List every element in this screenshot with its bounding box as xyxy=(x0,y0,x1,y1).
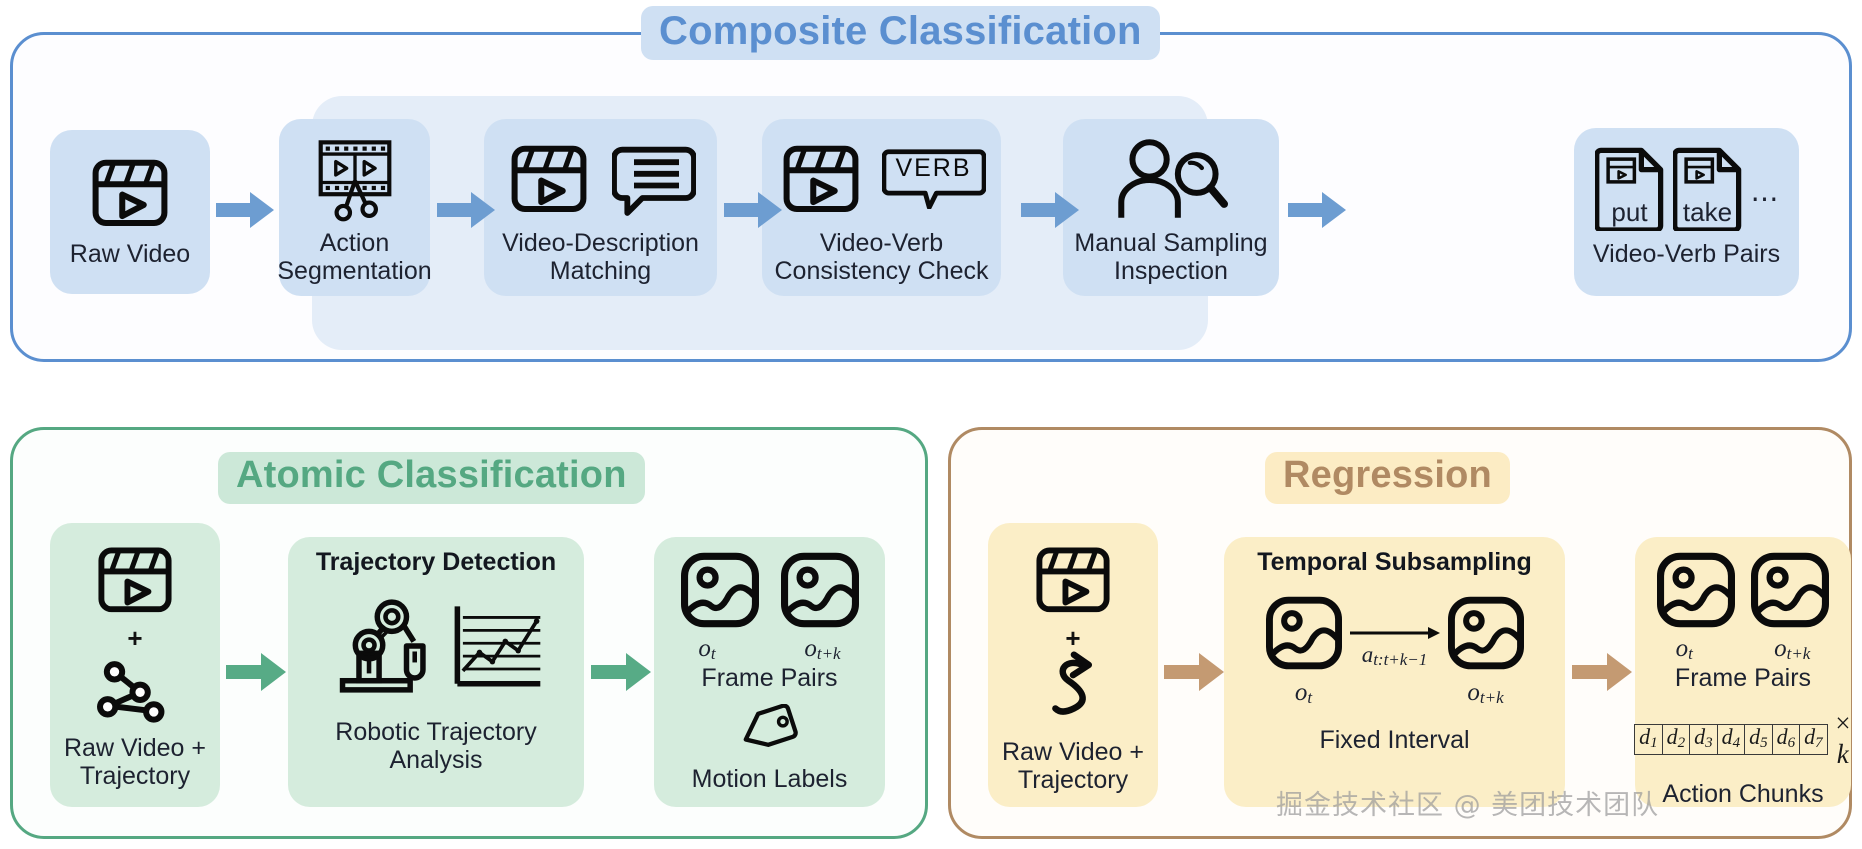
step-atomic-raw-video-trajectory[interactable]: + Raw Video + Trajectory xyxy=(50,523,220,807)
video-doc-icon: put xyxy=(1595,145,1665,236)
clapperboard-icon xyxy=(506,135,592,226)
motion-labels-label: Motion Labels xyxy=(692,765,848,793)
step-trajectory-detection-label: Robotic Trajectory Analysis xyxy=(335,718,536,774)
arrow-matching-to-consistency xyxy=(724,192,782,233)
ellipsis-icon: ⋯ xyxy=(1751,166,1779,215)
line-chart-icon xyxy=(448,599,546,698)
regression-frame-label-otk: ot+k xyxy=(1774,636,1810,662)
chunk-cell-d7: d7 xyxy=(1800,724,1828,755)
step-action-segmentation-label: Action Segmentation xyxy=(277,229,431,285)
subsampling-frame-label-left: ot xyxy=(1295,680,1312,706)
video-doc-label-put: put xyxy=(1595,197,1665,228)
speech-bubble-lines-icon xyxy=(612,138,696,223)
arrow-consistency-to-inspection xyxy=(1021,192,1079,233)
regression-frame-pairs-label: Frame Pairs xyxy=(1675,664,1811,692)
clapperboard-icon xyxy=(87,144,173,240)
step-video-verb-pairs[interactable]: put take ⋯ Video-Verb Pairs xyxy=(1574,128,1799,296)
temporal-subsampling-heading: Temporal Subsampling xyxy=(1257,549,1532,577)
frame-label-ot: ot xyxy=(698,636,715,662)
clapperboard-icon xyxy=(778,135,864,226)
film-strip-scissors-icon xyxy=(309,131,401,229)
person-magnifier-icon xyxy=(1111,131,1231,229)
chunk-cell-d4: d4 xyxy=(1718,724,1746,755)
plus-sign: + xyxy=(127,628,142,649)
arrow-regression-input-to-subsampling xyxy=(1164,653,1224,696)
image-frame-icon xyxy=(1264,595,1344,676)
step-video-verb-consistency-check-label: Video-Verb Consistency Check xyxy=(775,229,989,285)
watermark: 掘金技术社区 @ 美团技术团队 xyxy=(1276,783,1659,822)
verb-bubble-text: VERB xyxy=(882,154,986,183)
action-chunks-label: Action Chunks xyxy=(1662,780,1823,808)
arrow-detection-to-frame-pairs xyxy=(591,653,651,696)
chunk-cell-d2: d2 xyxy=(1663,724,1691,755)
tag-icon xyxy=(740,704,800,763)
clapperboard-icon xyxy=(93,537,177,626)
composite-classification-title: Composite Classification xyxy=(641,6,1160,60)
frame-pairs-label: Frame Pairs xyxy=(701,664,837,692)
step-video-description-matching[interactable]: Video-Description Matching xyxy=(484,119,717,296)
step-action-segmentation[interactable]: Action Segmentation xyxy=(279,119,430,296)
image-frame-icon xyxy=(1446,595,1526,676)
chunk-cell-d1: d1 xyxy=(1634,724,1663,755)
step-temporal-subsampling-label: Fixed Interval xyxy=(1319,726,1469,754)
trajectory-detection-heading: Trajectory Detection xyxy=(316,549,556,577)
subsampling-transition-label: at:t+k−1 xyxy=(1362,643,1428,668)
action-chunks-row: d1 d2 d3 d4 d5 d6 d7 × k xyxy=(1634,708,1852,770)
atomic-classification-title: Atomic Classification xyxy=(218,452,645,504)
arrow-atomic-input-to-detection xyxy=(226,653,286,696)
regression-title: Regression xyxy=(1265,452,1510,504)
arrow-segmentation-to-matching xyxy=(437,192,495,233)
chunk-cell-d5: d5 xyxy=(1745,724,1773,755)
subsampling-frame-label-right: ot+k xyxy=(1467,680,1503,706)
step-frame-pairs-motion-labels[interactable]: ot ot+k Frame Pairs Motion Labels xyxy=(654,537,885,807)
video-doc-label-take: take xyxy=(1673,197,1743,228)
arrow-inspection-to-pairs xyxy=(1288,192,1346,233)
step-temporal-subsampling[interactable]: Temporal Subsampling ot xyxy=(1224,537,1565,807)
step-video-verb-consistency-check[interactable]: VERB Video-Verb Consistency Check xyxy=(762,119,1001,296)
step-manual-sampling-inspection[interactable]: Manual Sampling Inspection xyxy=(1063,119,1279,296)
regression-frame-label-ot: ot xyxy=(1676,636,1693,662)
arrow-raw-video-to-segmentation xyxy=(216,192,274,233)
chunk-cell-d6: d6 xyxy=(1773,724,1801,755)
step-video-verb-pairs-label: Video-Verb Pairs xyxy=(1593,240,1780,268)
clapperboard-icon xyxy=(1031,537,1115,626)
trajectory-graph-icon xyxy=(92,653,178,728)
step-video-description-matching-label: Video-Description Matching xyxy=(502,229,699,285)
plus-sign: + xyxy=(1065,628,1080,649)
frame-label-otk: ot+k xyxy=(804,636,840,662)
step-regression-raw-video-trajectory-label: Raw Video + Trajectory xyxy=(1002,738,1144,794)
chunk-cell-d3: d3 xyxy=(1690,724,1718,755)
step-trajectory-detection[interactable]: Trajectory Detection xyxy=(288,537,584,807)
diagram-root: Composite Classification Raw Video xyxy=(0,0,1862,849)
arrow-subsampling-to-action-chunks xyxy=(1572,653,1632,696)
right-arrow-icon xyxy=(1348,625,1442,641)
robot-arm-icon xyxy=(326,593,434,704)
step-atomic-raw-video-trajectory-label: Raw Video + Trajectory xyxy=(64,734,206,790)
image-frame-icon xyxy=(1655,551,1737,634)
image-frame-icon xyxy=(1749,551,1831,634)
image-frame-icon xyxy=(779,551,861,634)
step-raw-video-label: Raw Video xyxy=(70,240,190,268)
verb-bubble-icon: VERB xyxy=(882,147,986,214)
subsampling-transition: at:t+k−1 xyxy=(1348,595,1442,668)
curved-arrow-icon xyxy=(1040,651,1106,732)
video-doc-icon: take xyxy=(1673,145,1743,236)
image-frame-icon xyxy=(679,551,761,634)
step-regression-raw-video-trajectory[interactable]: + Raw Video + Trajectory xyxy=(988,523,1158,807)
chunk-multiplier: × k xyxy=(1834,708,1852,770)
step-manual-sampling-inspection-label: Manual Sampling Inspection xyxy=(1074,229,1267,285)
step-raw-video[interactable]: Raw Video xyxy=(50,130,210,294)
step-frame-pairs-action-chunks[interactable]: ot ot+k Frame Pairs d1 d2 d3 d4 d5 d6 d7… xyxy=(1635,537,1851,807)
